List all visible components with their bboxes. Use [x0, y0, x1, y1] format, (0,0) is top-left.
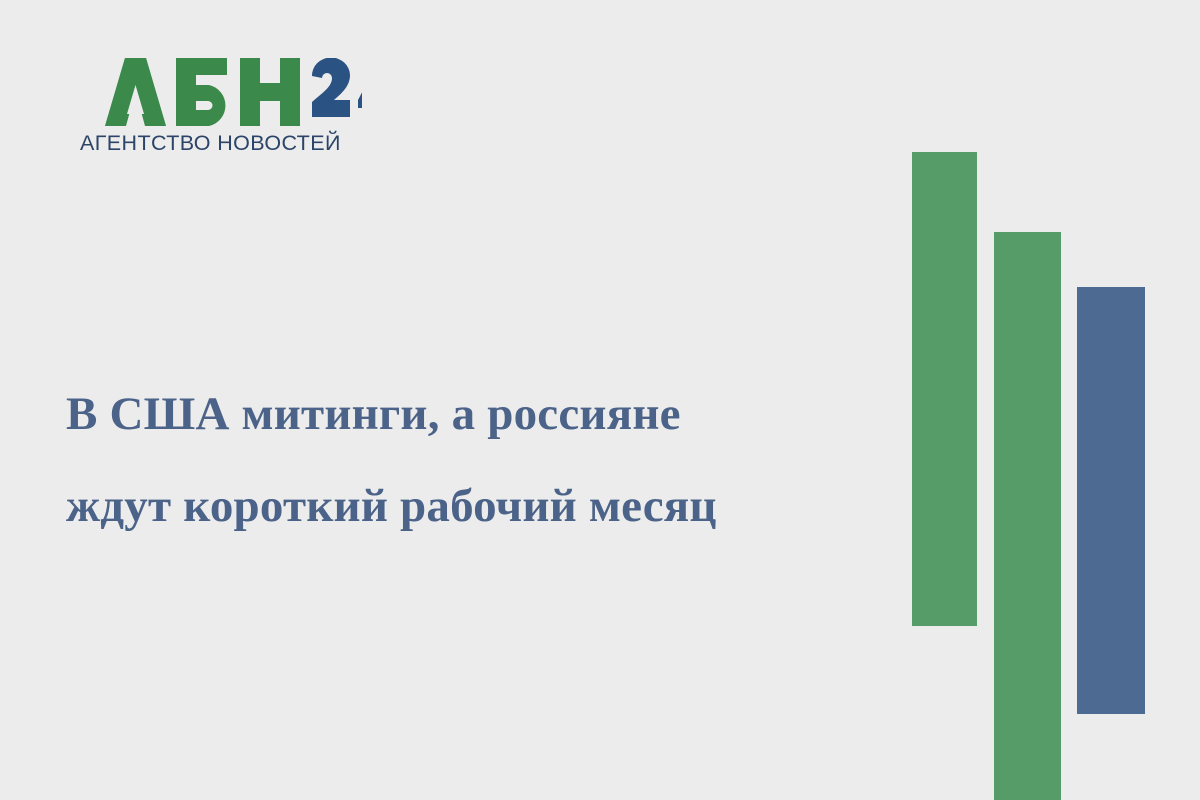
logo-subtitle-text: АГЕНТСТВО НОВОСТЕЙ — [80, 130, 341, 155]
chart-bar — [912, 152, 977, 626]
logo[interactable]: АГЕНТСТВО НОВОСТЕЙ — [80, 58, 370, 158]
logo-subtitle-icon: АГЕНТСТВО НОВОСТЕЙ — [80, 130, 362, 156]
logo-wordmark-icon — [80, 58, 362, 126]
headline: В США митинги, а россияне ждут короткий … — [66, 368, 866, 552]
news-card: АГЕНТСТВО НОВОСТЕЙ В США митинги, а росс… — [0, 0, 1200, 800]
chart-bar — [994, 232, 1061, 800]
chart-bar — [1077, 287, 1145, 714]
